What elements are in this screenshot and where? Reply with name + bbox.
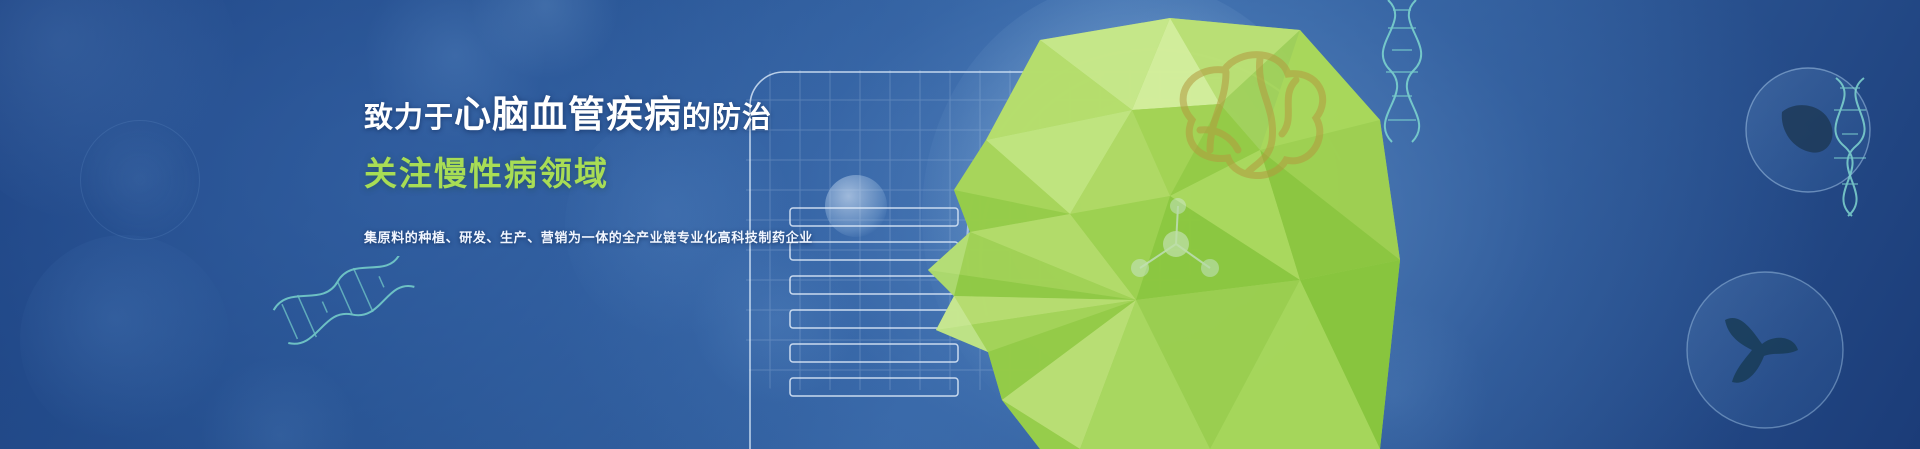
dna-helix-icon	[1383, 0, 1421, 142]
list-bar	[790, 344, 958, 362]
list-bar	[790, 378, 958, 396]
headline-prefix: 致力于	[364, 102, 454, 134]
headline-emphasis: 心脑血管疾病	[454, 94, 682, 135]
cell-icon	[1687, 272, 1843, 428]
illustration-svg	[740, 0, 1920, 449]
bokeh-circle	[80, 120, 200, 240]
science-illustration	[740, 0, 1920, 449]
bokeh-circle	[200, 355, 360, 449]
list-bar	[790, 310, 958, 328]
bokeh-circle	[0, 0, 240, 220]
bokeh-circle	[470, 0, 620, 80]
subheadline: 关注慢性病领域	[364, 147, 824, 195]
banner-copy: 致力于心脑血管疾病的防治 关注慢性病领域 集原料的种植、研发、生产、营销为一体的…	[364, 96, 824, 246]
bokeh-circle	[20, 235, 230, 445]
dna-helix-icon	[268, 256, 418, 366]
page-title: 致力于心脑血管疾病的防治	[364, 96, 824, 133]
tagline: 集原料的种植、研发、生产、营销为一体的全产业链专业化高科技制药企业	[364, 227, 824, 246]
hero-banner: 致力于心脑血管疾病的防治 关注慢性病领域 集原料的种植、研发、生产、营销为一体的…	[0, 0, 1920, 449]
headline-suffix: 的防治	[682, 102, 772, 134]
